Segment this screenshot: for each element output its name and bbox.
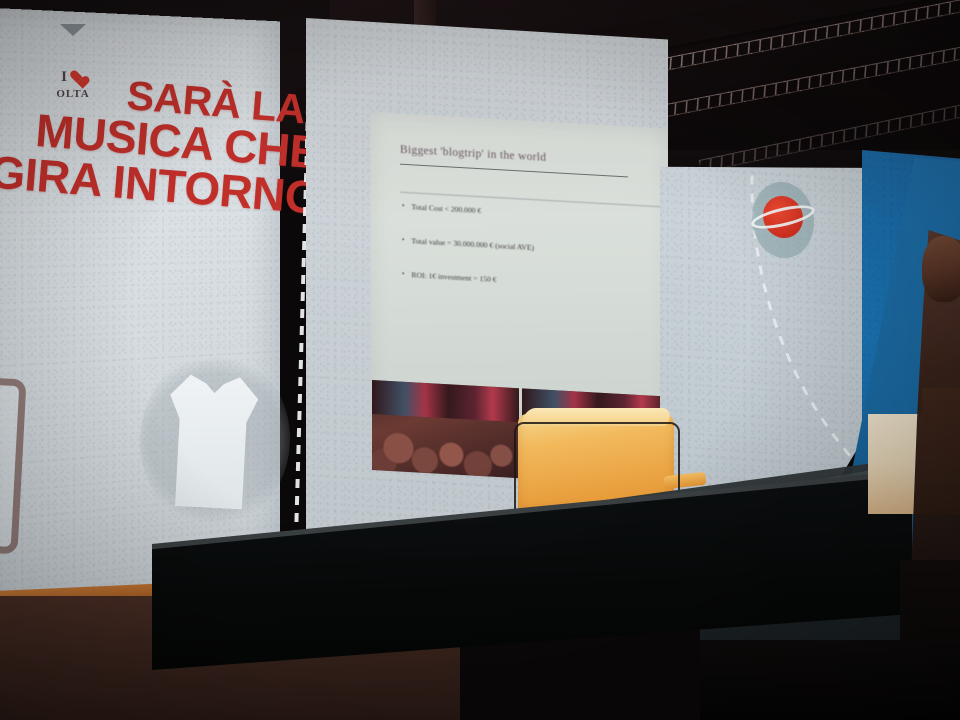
bullet-marker: • (402, 202, 404, 212)
tshirt-print: I OLTA (44, 70, 102, 102)
bullet-text: Total value = 30.000.000 € (social AVE) (411, 236, 534, 253)
bullet-text: ROI: 1€ investment = 150 € (411, 270, 496, 285)
bullet-text: Total Cost < 200.000 € (411, 202, 481, 216)
slide-bullet-item: • Total value = 30.000.000 € (social AVE… (402, 236, 658, 260)
tshirt-print-row-1: I (44, 70, 102, 86)
slide-bullet-item: • ROI: 1€ investment = 150 € (402, 269, 658, 293)
tshirt-print-row-2: OLTA (56, 88, 89, 100)
bullet-marker: • (402, 269, 404, 279)
concert-crowd-photo-left (372, 380, 519, 478)
foreground-dark-bottom (700, 640, 960, 720)
heart-icon (70, 71, 85, 85)
person-head (922, 236, 960, 302)
crowd-silhouettes (372, 380, 519, 478)
bullet-marker: • (402, 236, 404, 246)
slide-bullet-item: • Total Cost < 200.000 € (402, 202, 658, 226)
tshirt-graphic (165, 374, 260, 510)
tshirt-letter-i: I (61, 70, 67, 86)
planet-with-ring-icon (752, 180, 814, 260)
slide-bullet-list: • Total Cost < 200.000 € • Total value =… (402, 202, 658, 318)
projected-slide: Biggest 'blogtrip' in the world • Total … (370, 112, 668, 427)
stage-photograph: SARÀ LA MUSICA CHE GIRA INTORNO I OLTA B… (0, 0, 960, 720)
white-pedestal-front (868, 414, 922, 514)
